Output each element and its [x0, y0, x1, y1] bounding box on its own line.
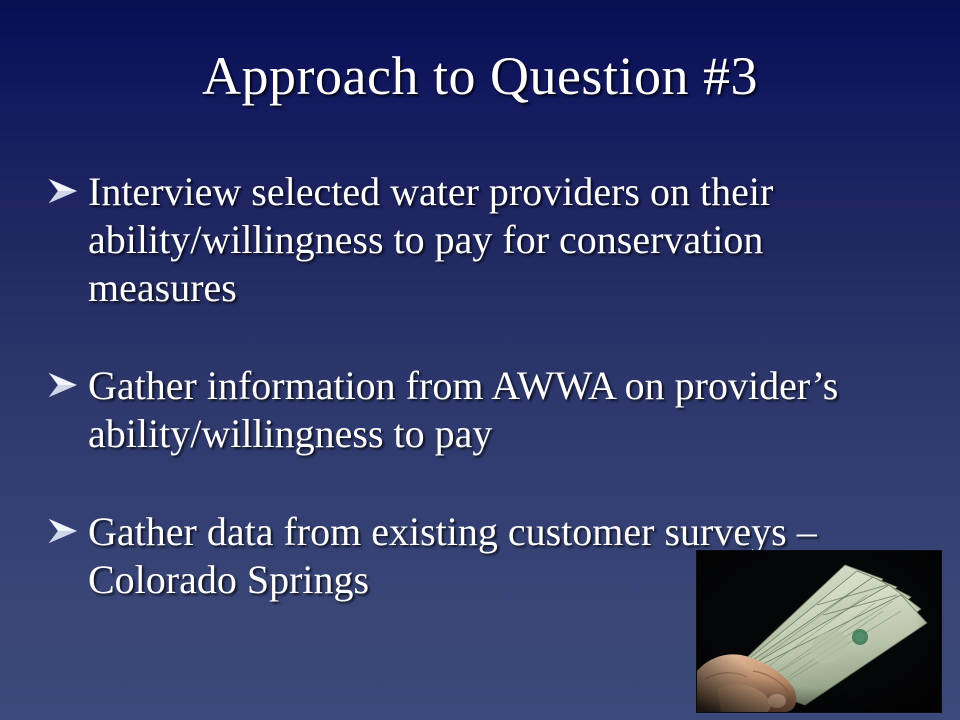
list-item-label: Interview selected water providers on th… — [88, 168, 918, 312]
arrowhead-bullet-icon — [48, 168, 82, 216]
page-title: Approach to Question #3 — [0, 46, 960, 106]
bullet-list: Interview selected water providers on th… — [48, 168, 918, 604]
arrowhead-bullet-icon — [48, 508, 82, 556]
list-item: Gather information from AWWA on provider… — [48, 362, 918, 458]
money-photo — [697, 551, 941, 712]
list-item-label: Gather information from AWWA on provider… — [88, 362, 918, 458]
slide: Approach to Question #3 Interview select… — [0, 0, 960, 720]
list-item: Interview selected water providers on th… — [48, 168, 918, 312]
arrowhead-bullet-icon — [48, 362, 82, 410]
